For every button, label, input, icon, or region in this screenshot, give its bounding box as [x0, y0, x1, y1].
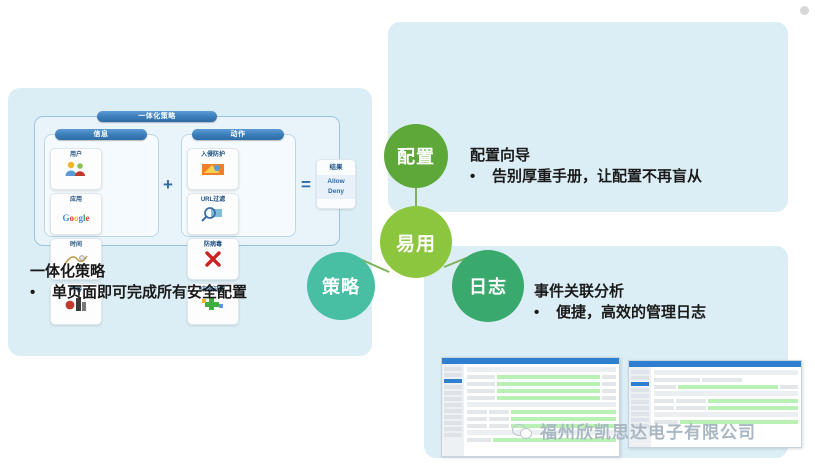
sidebar-item-selected	[444, 379, 462, 383]
result-allow: Allow	[317, 177, 355, 187]
tile-antivirus-label: 防病毒	[188, 239, 238, 250]
tile-intrusion-prevention[interactable]: 入侵防护	[187, 148, 239, 190]
result-deny: Deny	[317, 187, 355, 197]
sidebar-item	[631, 370, 649, 374]
sidebar-item	[444, 403, 462, 407]
intrusion-prevention-icon	[188, 160, 238, 186]
sidebar-item	[444, 409, 462, 413]
sidebar-item	[444, 391, 462, 395]
table-row	[654, 405, 798, 410]
diagram-title: 一体化策略	[97, 111, 217, 122]
policy-panel: 一体化策略 信息 用户 应用	[8, 88, 372, 356]
sidebar-item	[631, 376, 649, 380]
table-row	[654, 384, 798, 389]
info-group: 信息 用户 应用 Google	[44, 134, 159, 237]
sidebar-item	[444, 385, 462, 389]
result-header: 结果	[317, 160, 355, 175]
sidebar-item	[631, 412, 649, 416]
config-caption-bullet: •告别厚重手册，让配置不再盲从	[470, 166, 770, 188]
tile-user[interactable]: 用户	[50, 148, 102, 190]
node-log[interactable]: 日志	[452, 250, 524, 322]
table-header	[654, 391, 798, 396]
tile-url-filter-label: URL过滤	[188, 194, 238, 205]
sidebar-item	[444, 367, 462, 371]
info-group-caption: 信息	[55, 129, 147, 140]
watermark-text: 福州欣凯思达电子有限公司	[540, 418, 756, 443]
google-logo-icon: Google	[51, 205, 101, 231]
unified-policy-diagram: 一体化策略 信息 用户 应用	[34, 116, 340, 246]
bullet-mark: •	[534, 302, 556, 324]
table-header	[467, 402, 616, 407]
watermark: 福州欣凯思达电子有限公司	[512, 418, 756, 443]
policy-caption: 一体化策略 •单页面即可完成所有安全配置	[30, 262, 330, 304]
sidebar-item	[631, 388, 649, 392]
config-caption-bullet-text: 告别厚重手册，让配置不再盲从	[492, 168, 702, 185]
sidebar-item	[444, 433, 462, 437]
bullet-mark: •	[470, 166, 492, 188]
table-row	[467, 409, 616, 414]
tile-user-label: 用户	[51, 149, 101, 160]
corner-dot	[800, 6, 809, 15]
wechat-icon	[512, 422, 534, 440]
policy-caption-bullet-text: 单页面即可完成所有安全配置	[52, 284, 247, 301]
table-row	[467, 381, 616, 386]
log-caption-bullet-text: 便捷，高效的管理日志	[556, 304, 706, 321]
screenshot-sidebar	[442, 364, 464, 456]
log-caption-bullet: •便捷，高效的管理日志	[534, 302, 784, 324]
table-header	[654, 412, 798, 417]
bullet-mark: •	[30, 282, 52, 304]
sidebar-item	[444, 397, 462, 401]
config-caption-title: 配置向导	[470, 146, 770, 166]
table-header	[467, 367, 616, 372]
node-config[interactable]: 配置	[384, 124, 448, 188]
policy-caption-title: 一体化策略	[30, 262, 330, 282]
sidebar-item	[444, 427, 462, 431]
table-row	[467, 388, 616, 393]
policy-caption-bullet: •单页面即可完成所有安全配置	[30, 282, 330, 304]
sidebar-item-selected	[631, 382, 649, 386]
sidebar-item	[631, 394, 649, 398]
sidebar-item	[444, 421, 462, 425]
tile-intrusion-prevention-label: 入侵防护	[188, 149, 238, 160]
tile-url-filter[interactable]: URL过滤	[187, 193, 239, 235]
users-icon	[51, 160, 101, 186]
sidebar-item	[444, 373, 462, 377]
result-box: 结果 Allow Deny	[316, 159, 356, 209]
sidebar-item	[631, 400, 649, 404]
tile-application[interactable]: 应用 Google	[50, 193, 102, 235]
equals-operator: =	[301, 175, 311, 195]
table-row	[467, 395, 616, 400]
table-row	[467, 374, 616, 379]
tile-time-label: 时间	[51, 239, 101, 250]
config-caption: 配置向导 •告别厚重手册，让配置不再盲从	[470, 146, 770, 188]
url-filter-magnifier-icon	[188, 205, 238, 231]
node-hub-ease-of-use[interactable]: 易用	[380, 206, 452, 278]
plus-operator: +	[163, 175, 173, 195]
table-header	[654, 370, 798, 375]
table-row	[654, 377, 798, 382]
table-row	[654, 398, 798, 403]
node-policy[interactable]: 策略	[307, 252, 375, 320]
tile-application-label: 应用	[51, 194, 101, 205]
sidebar-item	[444, 415, 462, 419]
result-values: Allow Deny	[317, 175, 355, 199]
log-caption: 事件关联分析 •便捷，高效的管理日志	[534, 282, 784, 324]
sidebar-item	[631, 406, 649, 410]
action-group-caption: 动作	[192, 129, 284, 140]
log-caption-title: 事件关联分析	[534, 282, 784, 302]
action-group: 动作 入侵防护 URL过滤	[181, 134, 296, 237]
